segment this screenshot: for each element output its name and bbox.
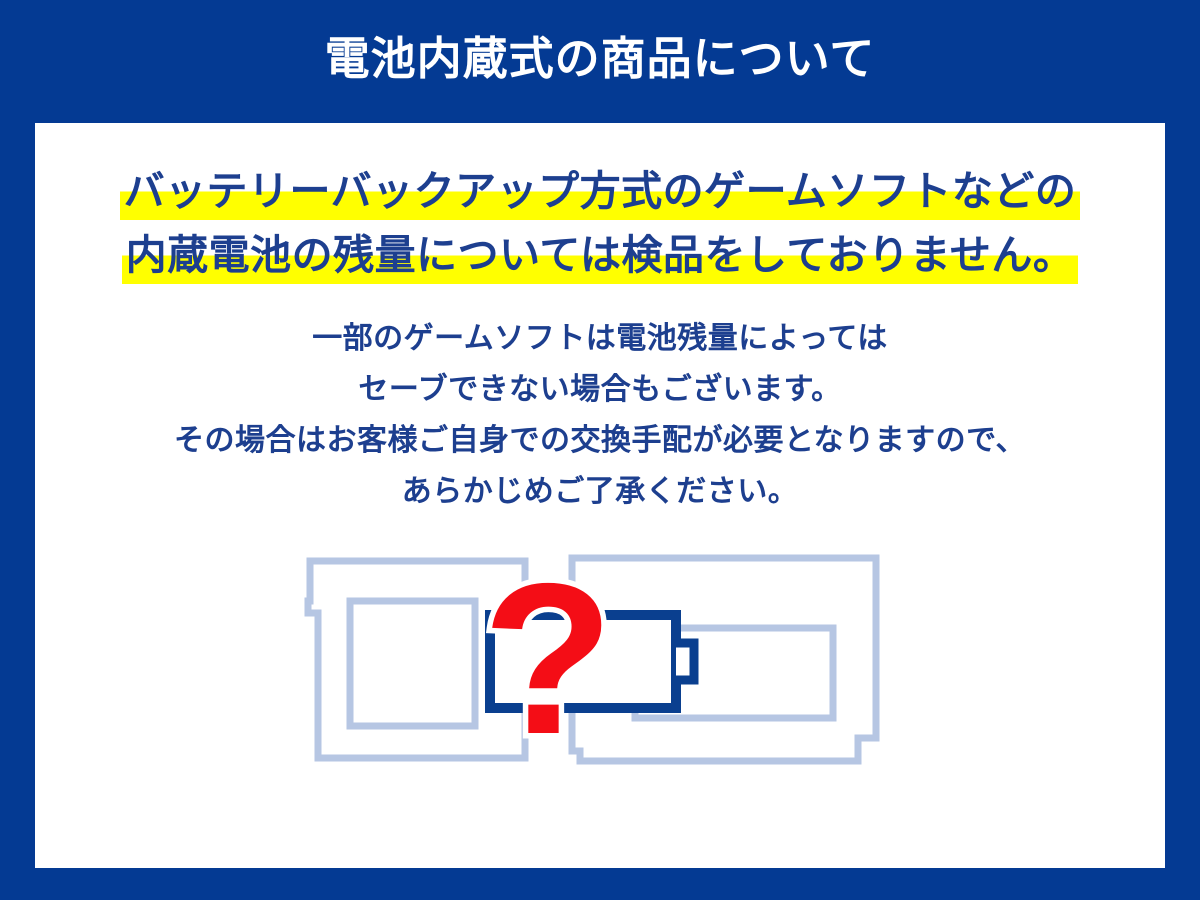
body-line-1: 一部のゲームソフトは電池残量によっては bbox=[35, 313, 1165, 364]
header-band: 電池内蔵式の商品について bbox=[0, 0, 1200, 123]
headline-block: バッテリーバックアップ方式のゲームソフトなどの 内蔵電池の残量については検品をし… bbox=[35, 159, 1165, 287]
body-block: 一部のゲームソフトは電池残量によっては セーブできない場合もございます。 その場… bbox=[35, 313, 1165, 517]
body-line-2: セーブできない場合もございます。 bbox=[35, 364, 1165, 415]
body-line-4: あらかじめご了承ください。 bbox=[35, 466, 1165, 517]
question-mark-icon: ? bbox=[482, 538, 613, 773]
headline-line-1: バッテリーバックアップ方式のゲームソフトなどの bbox=[35, 159, 1165, 223]
body-line-3: その場合はお客様ご自身での交換手配が必要となりますので、 bbox=[35, 415, 1165, 466]
game-cartridge-left-label-icon bbox=[350, 601, 475, 726]
headline-line-2: 内蔵電池の残量については検品をしておりません。 bbox=[35, 223, 1165, 287]
page-title: 電池内蔵式の商品について bbox=[325, 36, 876, 81]
content-card: バッテリーバックアップ方式のゲームソフトなどの 内蔵電池の残量については検品をし… bbox=[35, 123, 1165, 868]
headline-text-2: 内蔵電池の残量については検品をしておりません。 bbox=[122, 230, 1079, 284]
cartridge-battery-illustration: ? bbox=[280, 523, 920, 773]
headline-text-1: バッテリーバックアップ方式のゲームソフトなどの bbox=[120, 166, 1081, 220]
illustration-group: ? bbox=[35, 523, 1165, 773]
battery-terminal-icon bbox=[676, 643, 694, 680]
notice-slide: 電池内蔵式の商品について バッテリーバックアップ方式のゲームソフトなどの 内蔵電… bbox=[0, 0, 1200, 900]
